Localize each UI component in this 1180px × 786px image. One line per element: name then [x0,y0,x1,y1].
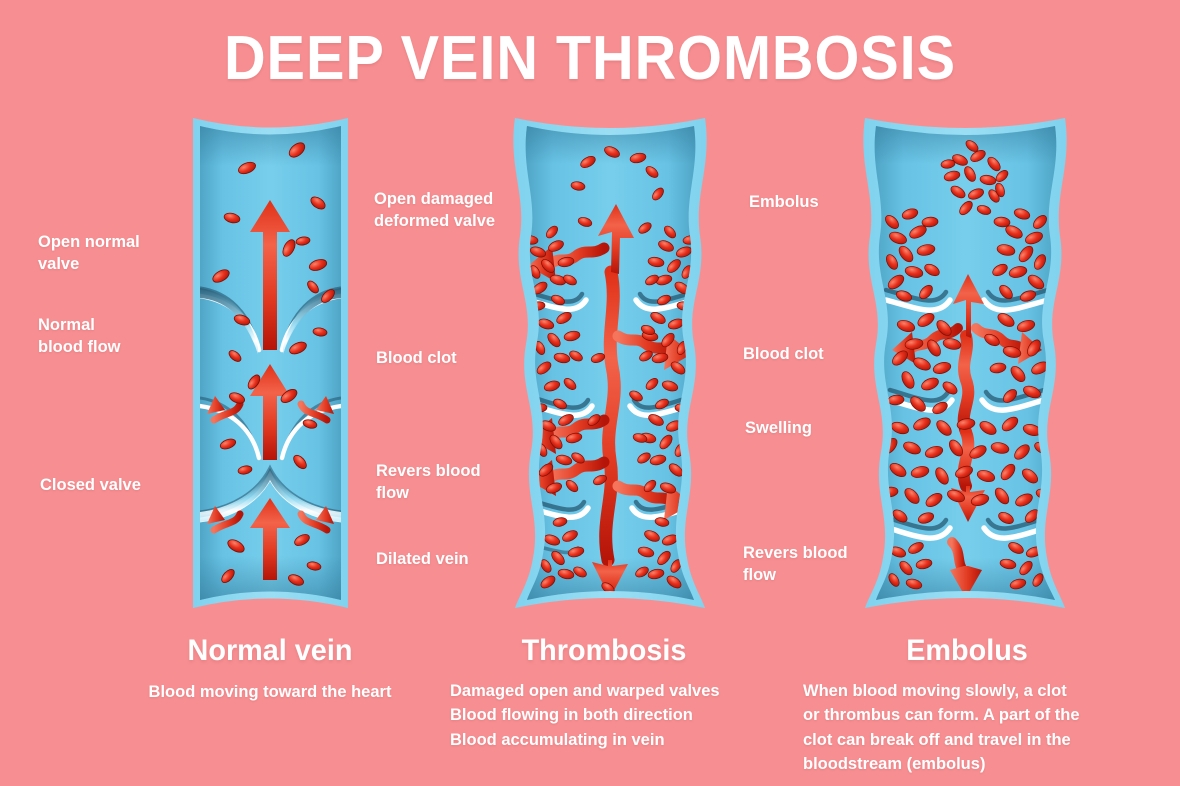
label-blood-clot-embolus: Blood clot [743,344,913,366]
label-normal-blood-flow: Normal blood flow [38,315,218,359]
caption-heading-normal-vein: Normal vein [103,634,437,668]
label-swelling: Swelling [745,418,915,440]
label-embolus-callout: Embolus [749,192,919,214]
infographic-canvas: DEEP VEIN THROMBOSIS [0,0,1180,786]
caption-heading-thrombosis: Thrombosis [454,634,754,668]
label-open-normal-valve: Open normal valve [38,232,218,276]
label-closed-valve: Closed valve [40,475,220,497]
caption-heading-embolus: Embolus [809,634,1126,668]
label-revers-blood-flow-thrombosis: Revers blood flow [376,461,546,505]
caption-body-normal-vein: Blood moving toward the heart [96,680,444,704]
label-revers-blood-flow-embolus: Revers blood flow [743,543,913,587]
label-blood-clot-thrombosis: Blood clot [376,348,546,370]
label-dilated-vein: Dilated vein [376,549,546,571]
vein-illustrations [0,0,1180,786]
caption-body-thrombosis: Damaged open and warped valves Blood flo… [450,679,790,752]
caption-body-embolus: When blood moving slowly, a clot or thro… [803,679,1153,776]
normal-vein-diagram [193,118,348,608]
label-open-damaged-deformed-valve: Open damaged deformed valve [374,189,564,233]
